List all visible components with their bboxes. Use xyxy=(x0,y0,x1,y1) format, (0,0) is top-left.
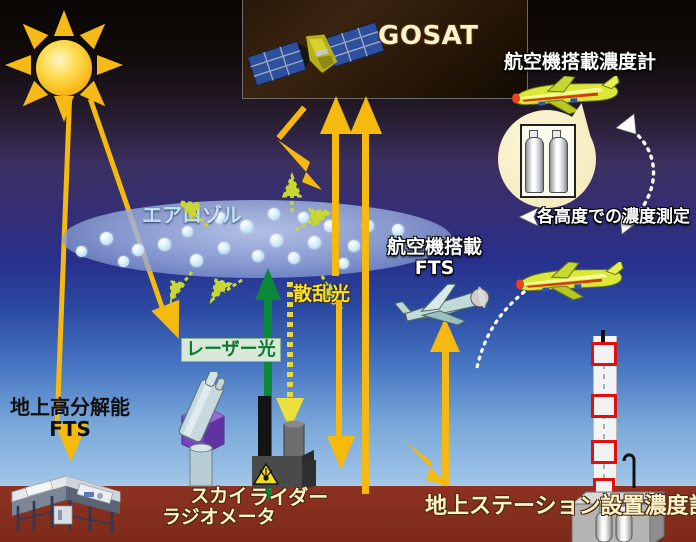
station-antenna-icon xyxy=(618,450,640,490)
ground-fts-equipment-icon xyxy=(8,452,126,538)
upward-beam-ground-arrowhead xyxy=(350,96,382,134)
lidar-label: ライダー xyxy=(249,486,328,508)
downward-beam-diagonal-arrowhead xyxy=(276,138,340,200)
upward-beam-ground-long xyxy=(362,128,369,494)
ground-station-meter-label: 地上ステーション設置濃度計 xyxy=(425,495,696,520)
gosat-satellite-icon xyxy=(246,8,386,100)
laser-light-label: レーザー光 xyxy=(181,338,281,362)
ground-fts-label: 地上高分解能 FTS xyxy=(10,396,130,441)
gas-cylinder-right xyxy=(549,137,568,193)
downward-beam-diagonal xyxy=(276,106,306,140)
tower-band-2 xyxy=(591,394,617,418)
downward-beam-station-arrowhead xyxy=(404,440,458,494)
tower-band-1 xyxy=(591,342,617,366)
diagram-canvas: GOSAT エア xyxy=(0,0,696,542)
altitude-measurement-label: 各高度での濃度測定 xyxy=(537,208,690,227)
aircraft-concentration-meter-label: 航空機搭載濃度計 xyxy=(504,52,656,73)
altitude-measurement-arrowhead xyxy=(518,206,540,228)
ground-station-icon xyxy=(570,336,666,488)
descent-dotted-path xyxy=(464,286,534,376)
sun-icon xyxy=(10,14,118,122)
gosat-label: GOSAT xyxy=(378,22,479,51)
gas-cylinder-box xyxy=(520,124,576,198)
tower-band-3 xyxy=(591,440,617,464)
sky-radiometer-icon xyxy=(160,372,232,492)
downward-beam-near-ground xyxy=(336,300,342,440)
downward-beam-near-ground-arrowhead xyxy=(327,436,355,470)
laser-arrowhead xyxy=(255,268,281,300)
gas-cylinder-left xyxy=(525,137,544,193)
aircraft-fts-label: 航空機搭載 FTS xyxy=(387,237,482,280)
lidar-icon xyxy=(248,396,324,492)
upward-beam-aerosol-arrowhead xyxy=(320,96,352,134)
